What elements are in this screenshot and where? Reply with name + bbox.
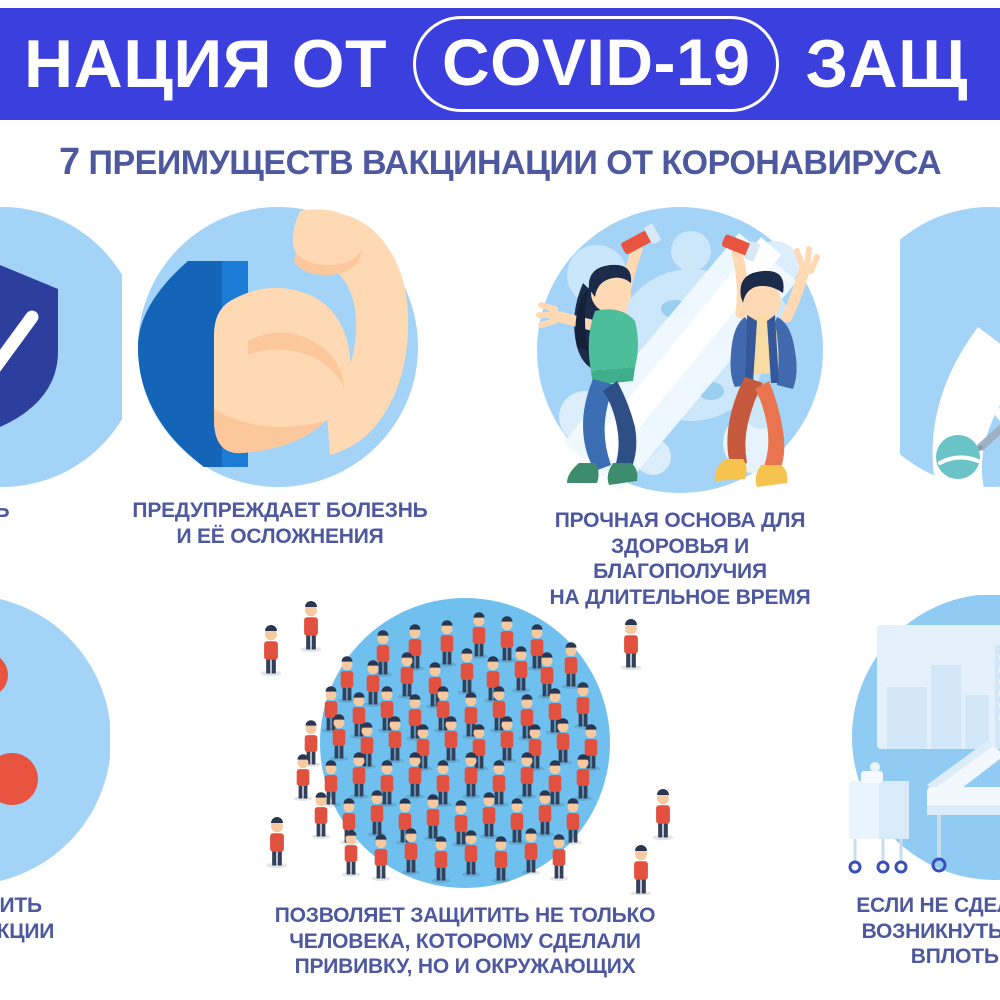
benefit-caption: ПРЕДУПРЕЖДАЕТ БОЛЕЗНЬ И ЕЁ ОСЛОЖНЕНИЯ [130,498,430,549]
benefit-caption: ЕСЛИ НЕ СДЕЛАТЬ В ВОЗНИКНУТЬ ТЯЖЕ ВПЛОТЬ… [835,893,1000,970]
coronavirus-icon: 19 [0,595,110,885]
benefit-caption: ПОЗВОЛЯЕТ ЗАЩИТИТЬ НЕ ТОЛЬКО ЧЕЛОВЕКА, К… [255,903,675,980]
benefits-grid: Ь [0,205,1000,995]
banner-pill-text: COVID-19 [442,25,750,99]
subtitle: 7 ПРЕИМУЩЕСТВ ВАКЦИНАЦИИ ОТ КОРОНАВИРУСА [0,142,1000,184]
covid-pill: COVID-19 [413,16,779,112]
syringe-icon [900,205,1000,490]
benefit-card-limit-spread: 19 РАНИЧИТЬ Е ИНФЕКЦИИ [0,595,110,944]
subtitle-number: 7 [59,141,80,183]
header-banner: НАЦИЯ ОТ COVID-19 ЗАЩ [0,8,1000,120]
flexed-bicep-icon [130,205,430,490]
crowd-of-people-icon: .legs{fill:#33405A}.body{fill:#E2513F}.h… [255,595,675,895]
benefit-caption: Ь [0,498,122,524]
banner-right-text: ЗАЩ [805,30,968,98]
hospital-bed-patient-icon [835,595,1000,885]
benefits-row-2: 19 РАНИЧИТЬ Е ИНФЕКЦИИ [0,595,1000,995]
shield-icon [0,205,122,490]
benefit-card-severe-illness: ЕСЛИ НЕ СДЕЛАТЬ В ВОЗНИКНУТЬ ТЯЖЕ ВПЛОТЬ… [835,595,1000,970]
banner-left-text: НАЦИЯ ОТ [24,30,387,98]
benefit-card-herd-immunity: .legs{fill:#33405A}.body{fill:#E2513F}.h… [255,595,675,980]
benefit-card-shield: Ь [0,205,122,524]
benefit-card-strong-arm: ПРЕДУПРЕЖДАЕТ БОЛЕЗНЬ И ЕЁ ОСЛОЖНЕНИЯ [130,205,430,549]
subtitle-text: ПРЕИМУЩЕСТВ ВАКЦИНАЦИИ ОТ КОРОНАВИРУСА [89,144,941,182]
banner-inner: НАЦИЯ ОТ COVID-19 ЗАЩ [24,16,968,112]
benefit-card-wellbeing: ПРОЧНАЯ ОСНОВА ДЛЯ ЗДОРОВЬЯ И БЛАГОПОЛУЧ… [525,205,835,610]
benefit-caption: РАНИЧИТЬ Е ИНФЕКЦИИ [0,893,110,944]
benefits-row-1: Ь [0,205,1000,595]
celebrating-people-icon [525,205,835,500]
benefit-caption: ВА [900,498,1000,524]
benefit-card-vaccination: ВА [900,205,1000,524]
